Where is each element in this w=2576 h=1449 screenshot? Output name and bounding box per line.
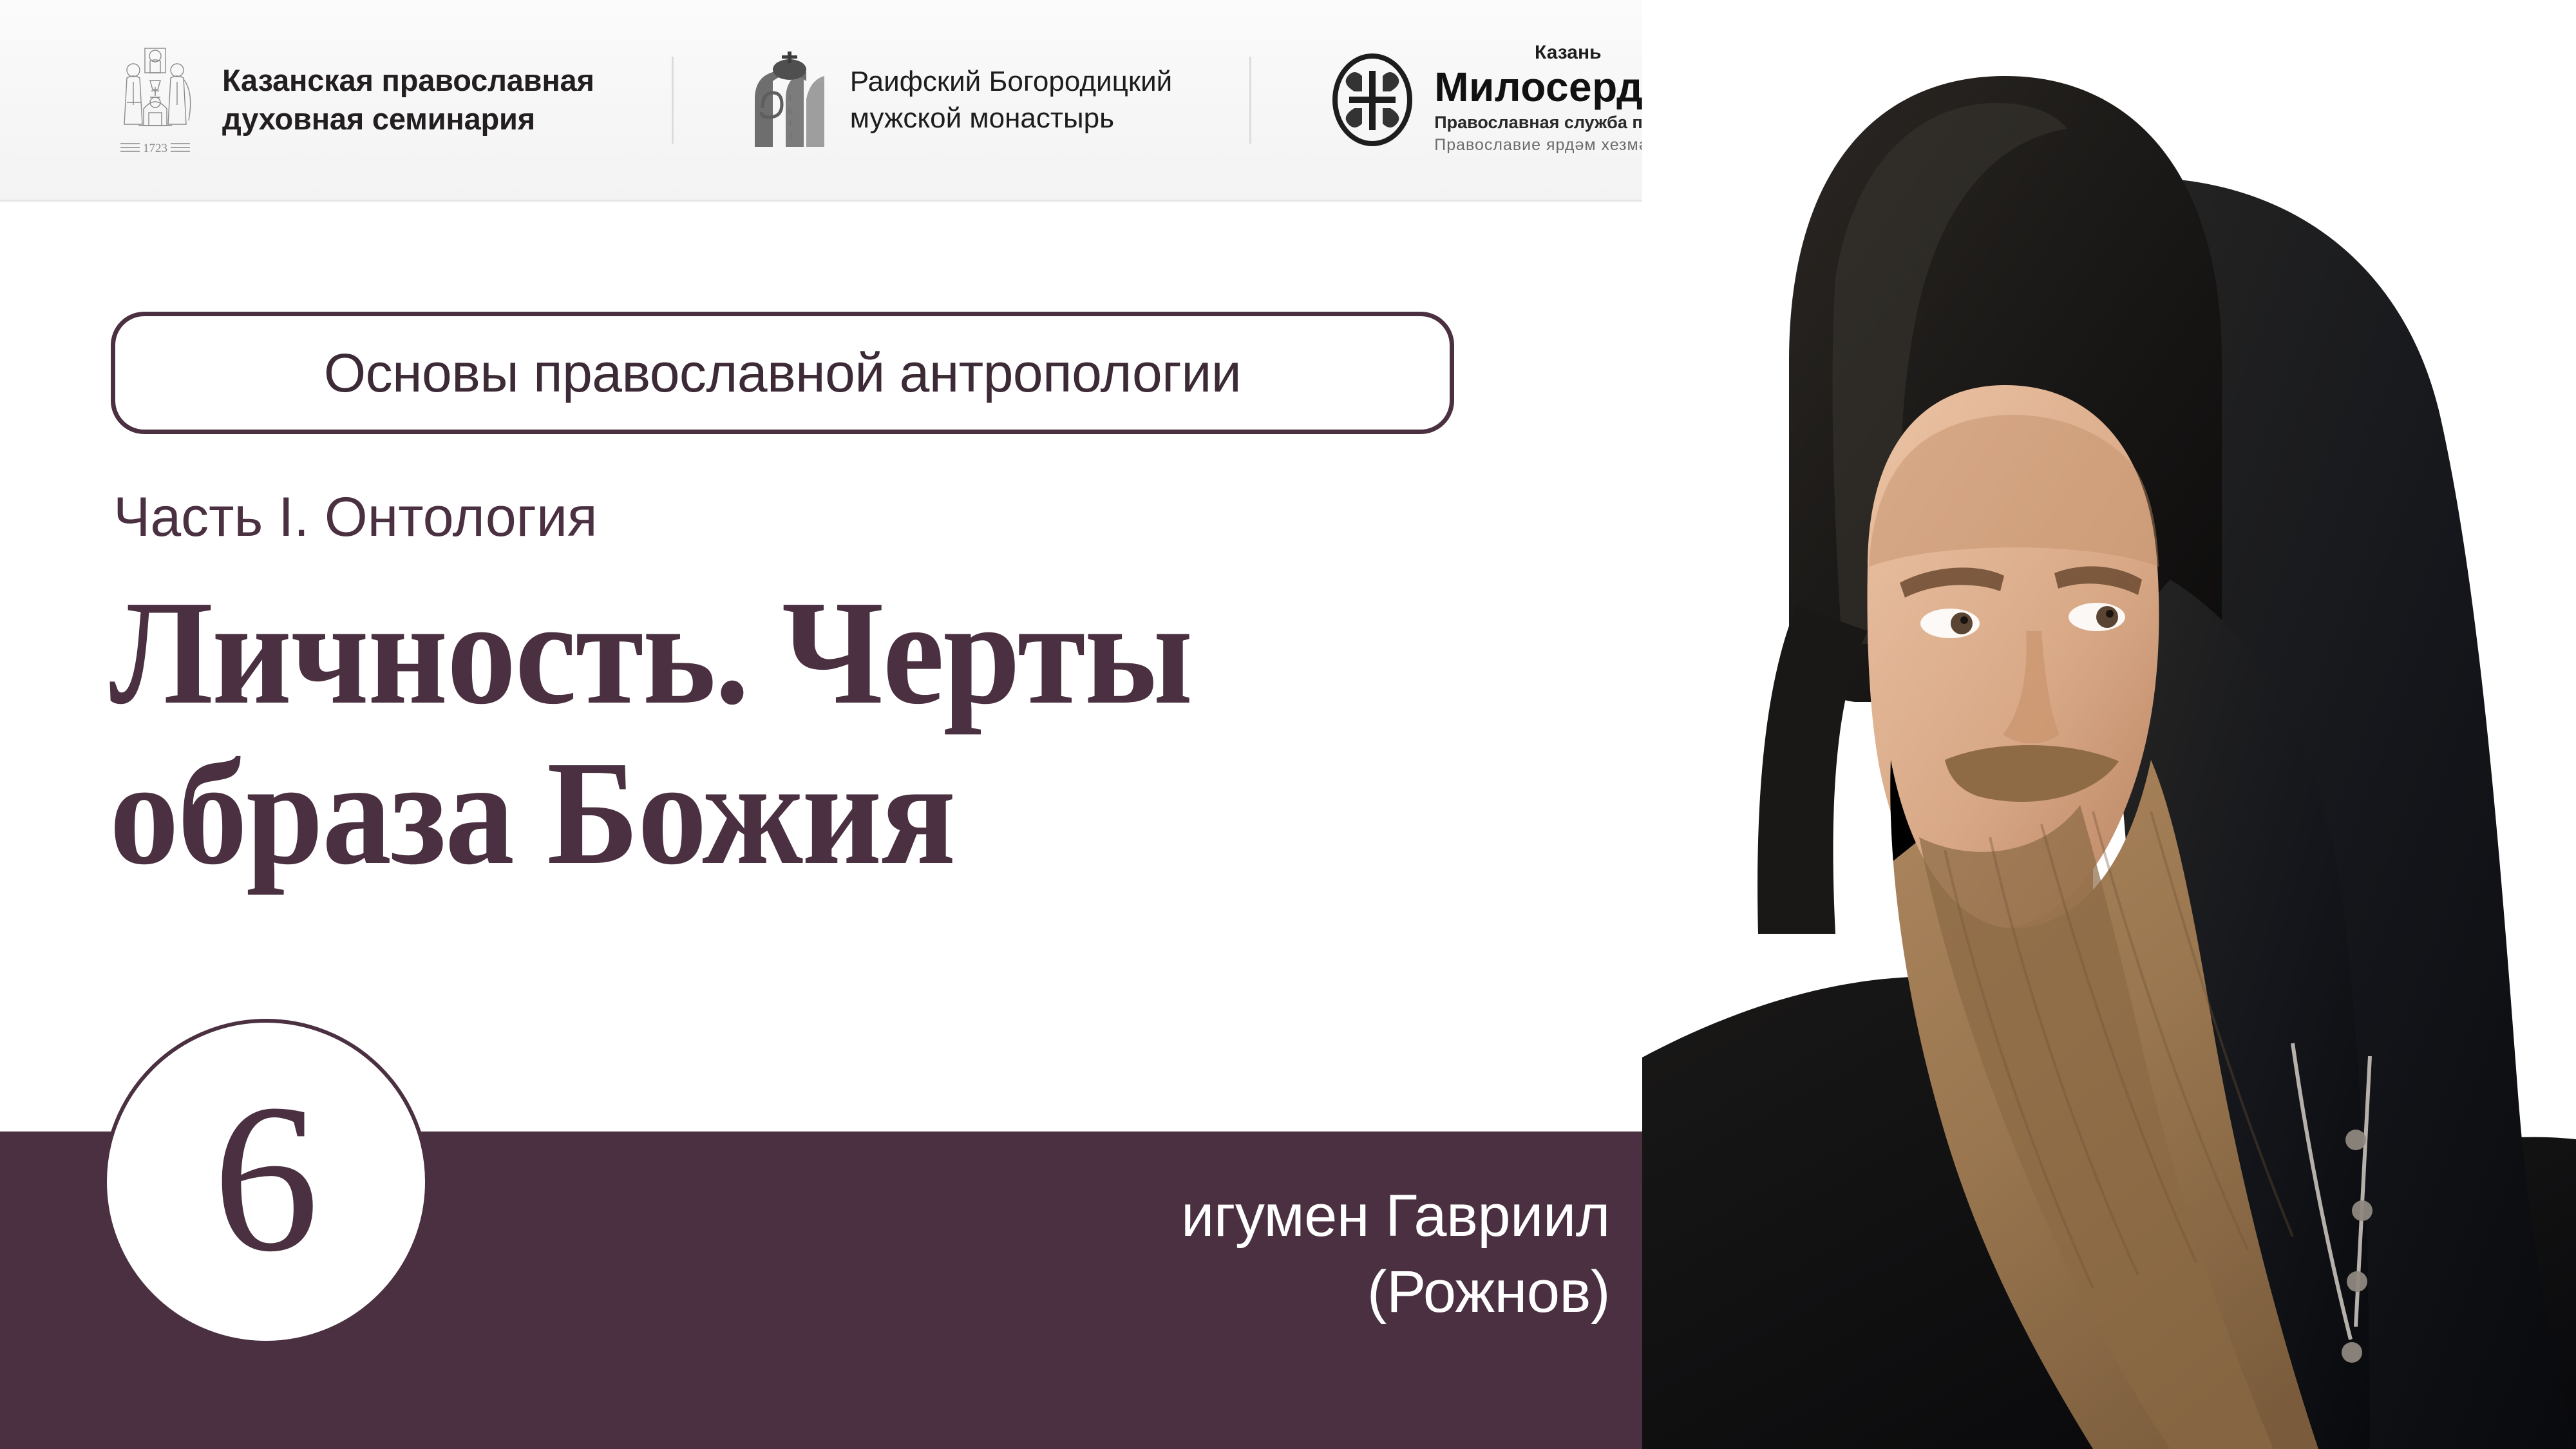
lesson-number: 6: [213, 1072, 319, 1285]
svg-text:3: 3: [788, 132, 792, 142]
presentation-slide: 1723 Казанская православная духовная сем…: [0, 0, 2576, 1449]
portrait-illustration: [1642, 0, 2576, 1449]
raifa-line-2: мужской монастырь: [850, 100, 1173, 137]
partner-raifa-label: Раифский Богородицкий мужской монастырь: [850, 63, 1173, 137]
svg-text:1: 1: [788, 93, 792, 103]
partner-kazan-seminary-label: Казанская православная духовная семинари…: [222, 61, 594, 138]
speaker-name-line-1: игумен Гавриил: [657, 1179, 1610, 1255]
svg-text:1: 1: [788, 119, 792, 129]
seminary-line-1: Казанская православная: [222, 61, 594, 100]
header-divider-1: [672, 57, 674, 144]
speaker-name-line-2: (Рожнов): [657, 1255, 1610, 1331]
raifa-line-1: Раифский Богородицкий: [850, 63, 1173, 100]
cross-oval-icon: [1329, 52, 1416, 148]
seminary-founded-year: 1723: [143, 142, 167, 155]
course-title-label: Основы православной антропологии: [324, 346, 1241, 400]
seminary-line-2: духовная семинария: [222, 100, 594, 138]
speaker-photo: [1642, 0, 2576, 1449]
svg-text:6: 6: [788, 106, 792, 116]
lesson-number-badge: 6: [103, 1019, 429, 1345]
course-title-pill: Основы православной антропологии: [111, 312, 1454, 434]
partner-kazan-seminary[interactable]: 1723 Казанская православная духовная сем…: [113, 41, 594, 160]
monastery-emblem-icon: 16 13: [751, 50, 828, 150]
lesson-title-line-2: образа Божия: [109, 740, 1559, 886]
header-divider-2: [1249, 57, 1251, 144]
course-part-label: Часть I. Онтология: [113, 489, 598, 545]
lesson-title: Личность. Черты образа Божия: [109, 580, 1559, 887]
partner-raifa-monastery[interactable]: 16 13 Раифский Богородицкий мужской мона…: [751, 50, 1173, 150]
lesson-title-line-1: Личность. Черты: [109, 580, 1559, 726]
speaker-name: игумен Гавриил (Рожнов): [657, 1179, 1610, 1331]
seminary-emblem-icon: 1723: [113, 41, 196, 160]
